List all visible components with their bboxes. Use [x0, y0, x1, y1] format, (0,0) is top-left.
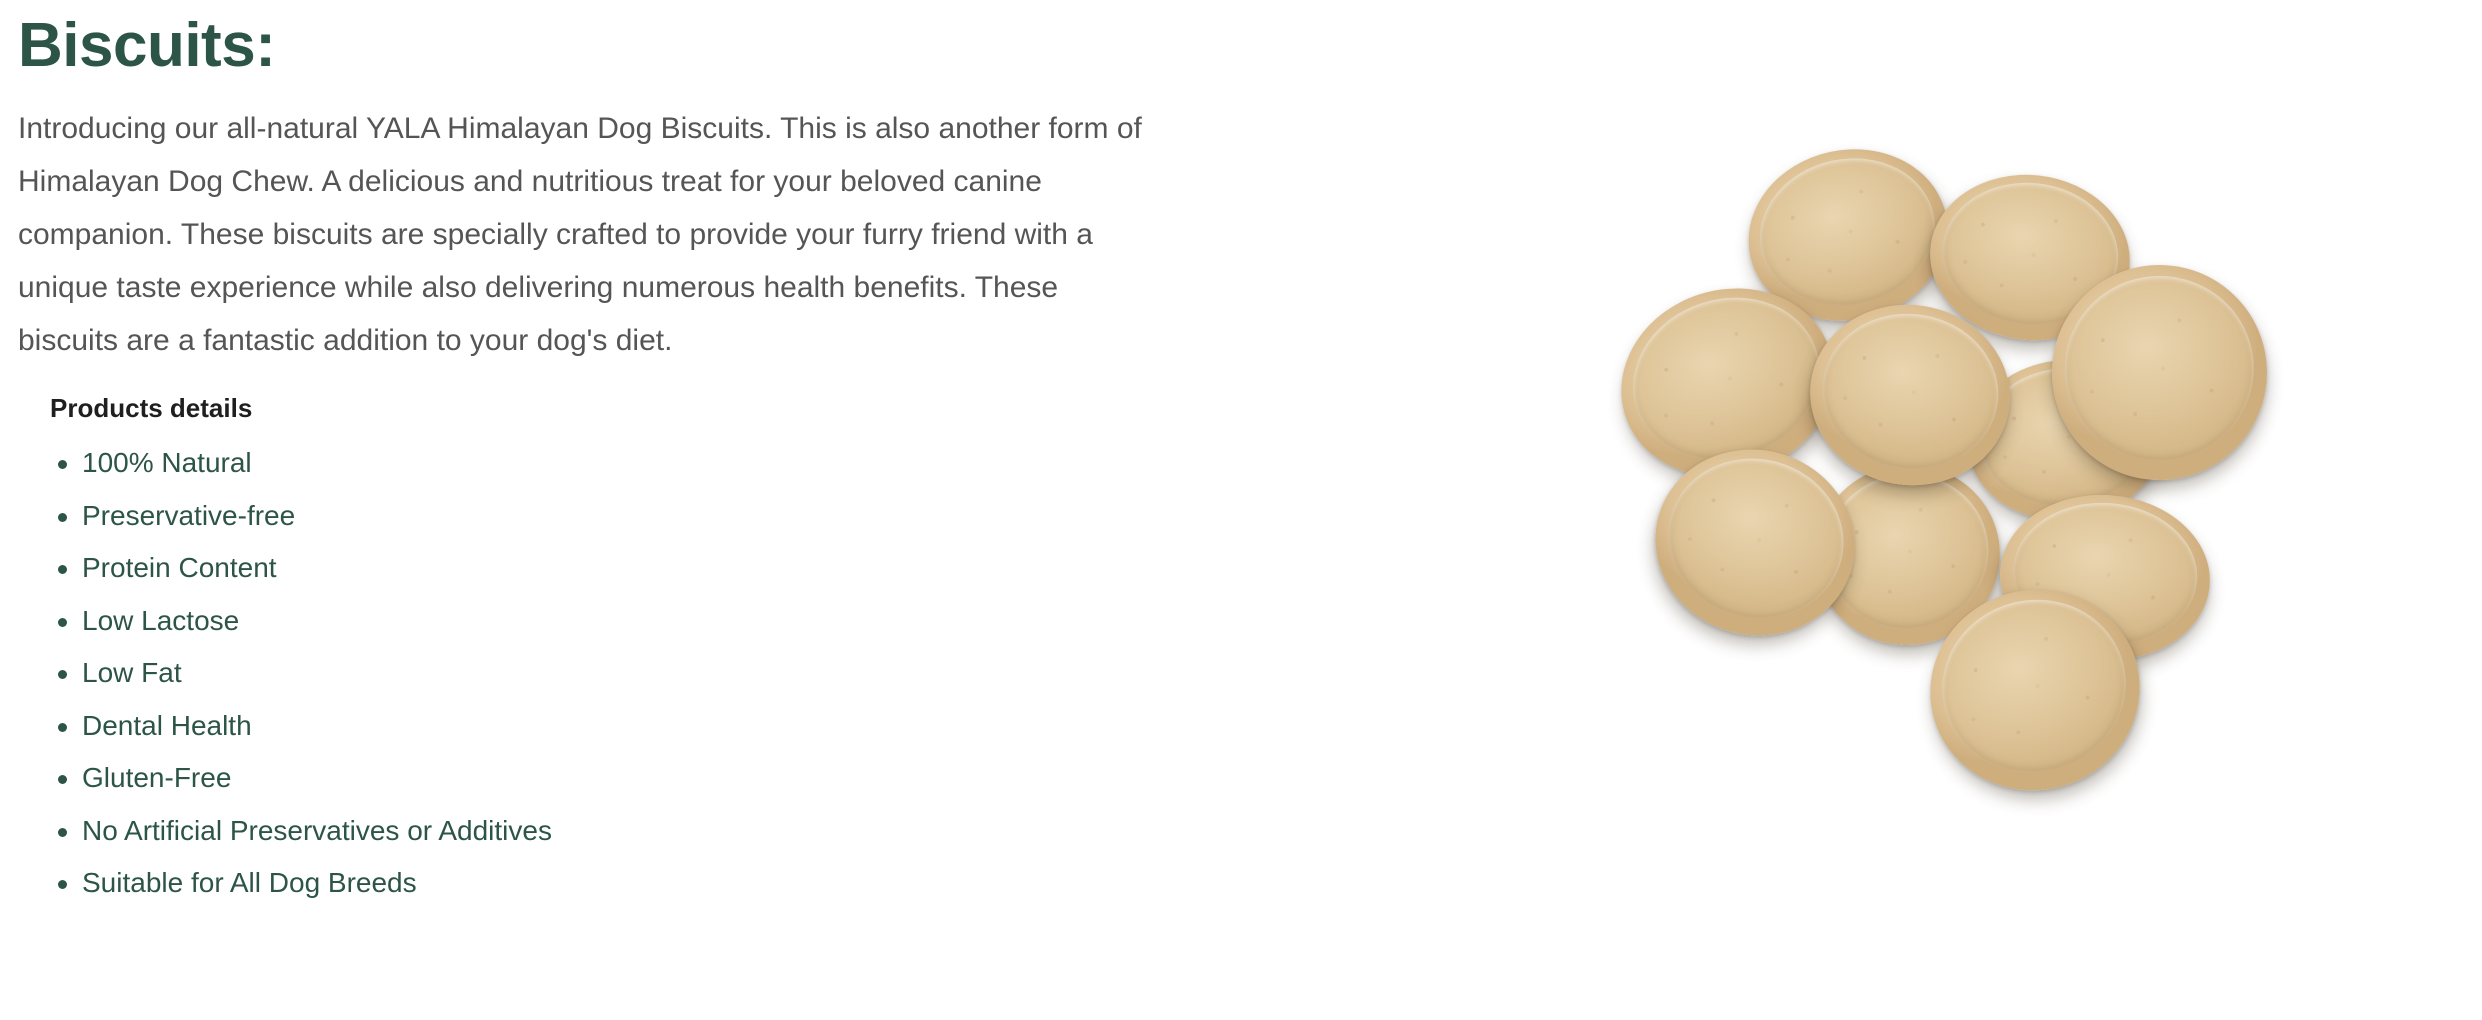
- product-description-page: Biscuits: Introducing our all-natural YA…: [0, 0, 2482, 1020]
- list-item: Preservative-free: [50, 490, 1400, 543]
- product-details-block: Products details 100% Natural Preservati…: [0, 367, 1400, 910]
- list-item: Dental Health: [50, 700, 1400, 753]
- product-details-heading: Products details: [50, 393, 1400, 423]
- list-item: Low Lactose: [50, 595, 1400, 648]
- list-item: 100% Natural: [50, 437, 1400, 490]
- product-text-column: Biscuits: Introducing our all-natural YA…: [0, 0, 1400, 910]
- page-title: Biscuits:: [0, 0, 1400, 80]
- product-description-paragraph: Introducing our all-natural YALA Himalay…: [0, 80, 1148, 367]
- list-item: No Artificial Preservatives or Additives: [50, 805, 1400, 858]
- list-item: Protein Content: [50, 542, 1400, 595]
- list-item: Suitable for All Dog Breeds: [50, 857, 1400, 910]
- list-item: Low Fat: [50, 647, 1400, 700]
- product-details-list: 100% Natural Preservative-free Protein C…: [50, 437, 1400, 910]
- biscuit-pile: [1600, 120, 2360, 880]
- list-item: Gluten-Free: [50, 752, 1400, 805]
- product-image: [1600, 120, 2360, 880]
